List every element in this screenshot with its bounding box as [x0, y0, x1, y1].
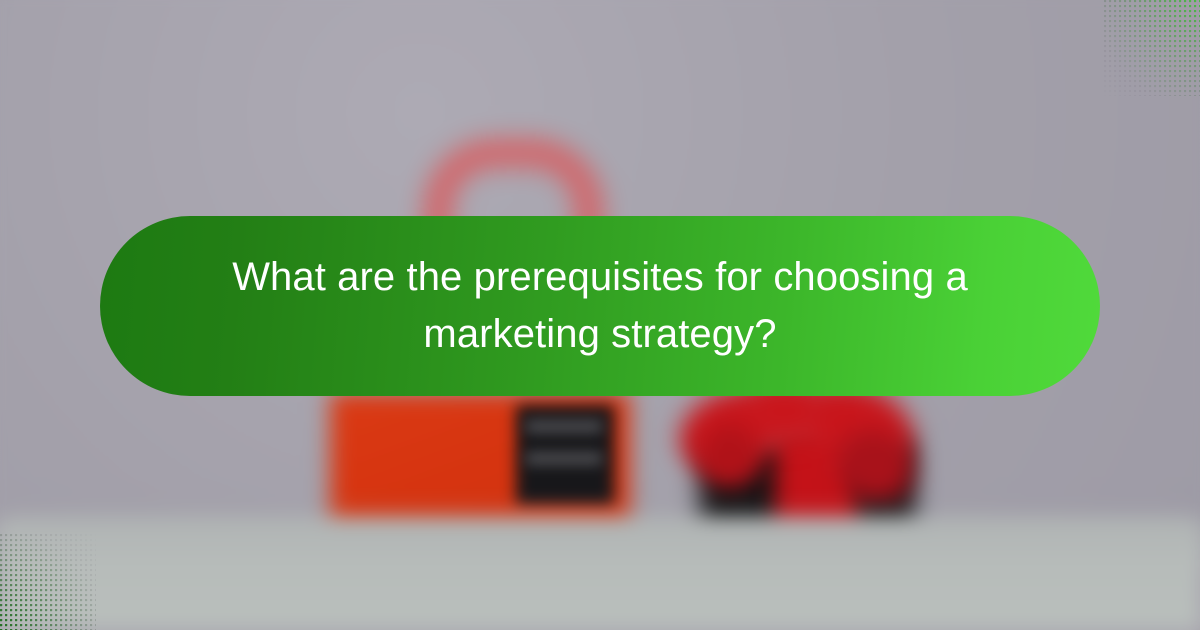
page-title: What are the prerequisites for choosing …: [158, 249, 1042, 363]
price-tag-line: [526, 420, 602, 433]
title-banner: What are the prerequisites for choosing …: [100, 216, 1100, 396]
share-card: What are the prerequisites for choosing …: [0, 0, 1200, 630]
top-right-dots-accent-icon: [1104, 0, 1200, 96]
price-tag-line: [526, 452, 602, 465]
background-table: [0, 520, 1200, 630]
bottom-left-dots-accent-icon: [0, 534, 96, 630]
